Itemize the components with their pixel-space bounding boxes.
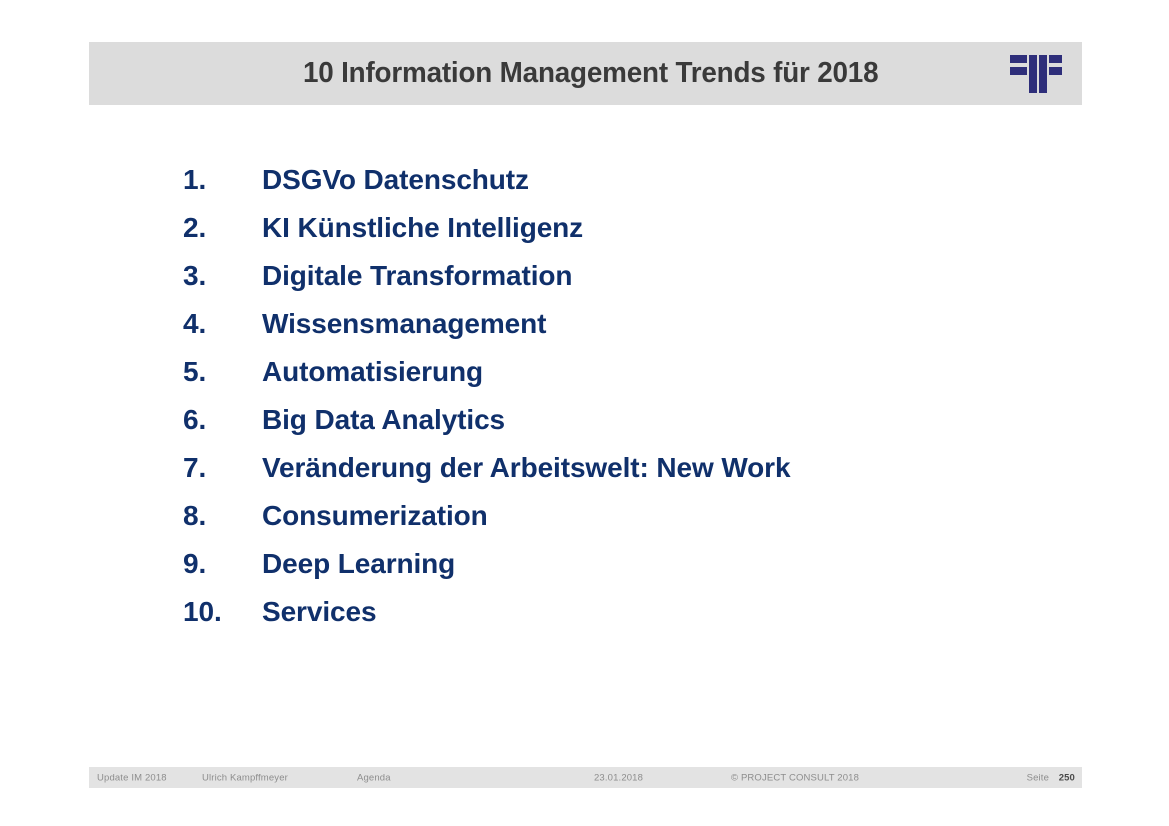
list-item-number: 8. [183,500,262,532]
list-item-label: Automatisierung [262,356,483,388]
list-item-label: Big Data Analytics [262,404,505,436]
list-item-number: 10. [183,596,262,628]
list-item: 5. Automatisierung [0,348,1169,396]
footer-page-number: 250 [1059,772,1075,783]
list-item-number: 3. [183,260,262,292]
trends-list: 1. DSGVo Datenschutz 2. KI Künstliche In… [0,156,1169,636]
list-item: 1. DSGVo Datenschutz [0,156,1169,204]
list-item-number: 7. [183,452,262,484]
footer-copyright-label: © PROJECT CONSULT 2018 [731,772,859,783]
list-item: 7. Veränderung der Arbeitswelt: New Work [0,444,1169,492]
list-item-label: Veränderung der Arbeitswelt: New Work [262,452,790,484]
list-item: 6. Big Data Analytics [0,396,1169,444]
list-item: 9. Deep Learning [0,540,1169,588]
list-item-label: Wissensmanagement [262,308,546,340]
list-item-label: KI Künstliche Intelligenz [262,212,583,244]
list-item-number: 4. [183,308,262,340]
list-item: 10. Services [0,588,1169,636]
footer-section-label: Agenda [357,772,391,783]
list-item: 2. KI Künstliche Intelligenz [0,204,1169,252]
project-consult-logo-icon [1010,53,1062,95]
list-item-number: 1. [183,164,262,196]
list-item-number: 5. [183,356,262,388]
slide-footer: Update IM 2018 Ulrich Kampffmeyer Agenda… [89,767,1082,788]
list-item-number: 6. [183,404,262,436]
footer-date-label: 23.01.2018 [594,772,643,783]
footer-author-label: Ulrich Kampffmeyer [202,772,288,783]
page-title: 10 Information Management Trends für 201… [303,57,878,90]
footer-update-label: Update IM 2018 [97,772,167,783]
list-item-label: Deep Learning [262,548,455,580]
list-item: 4. Wissensmanagement [0,300,1169,348]
slide-header: 10 Information Management Trends für 201… [89,42,1082,105]
list-item-label: Services [262,596,376,628]
list-item-label: Consumerization [262,500,488,532]
list-item-number: 9. [183,548,262,580]
list-item-label: DSGVo Datenschutz [262,164,529,196]
list-item-label: Digitale Transformation [262,260,572,292]
footer-page-label: Seite [1027,772,1049,783]
list-item: 3. Digitale Transformation [0,252,1169,300]
list-item: 8. Consumerization [0,492,1169,540]
slide-canvas: 10 Information Management Trends für 201… [0,0,1169,826]
list-item-number: 2. [183,212,262,244]
